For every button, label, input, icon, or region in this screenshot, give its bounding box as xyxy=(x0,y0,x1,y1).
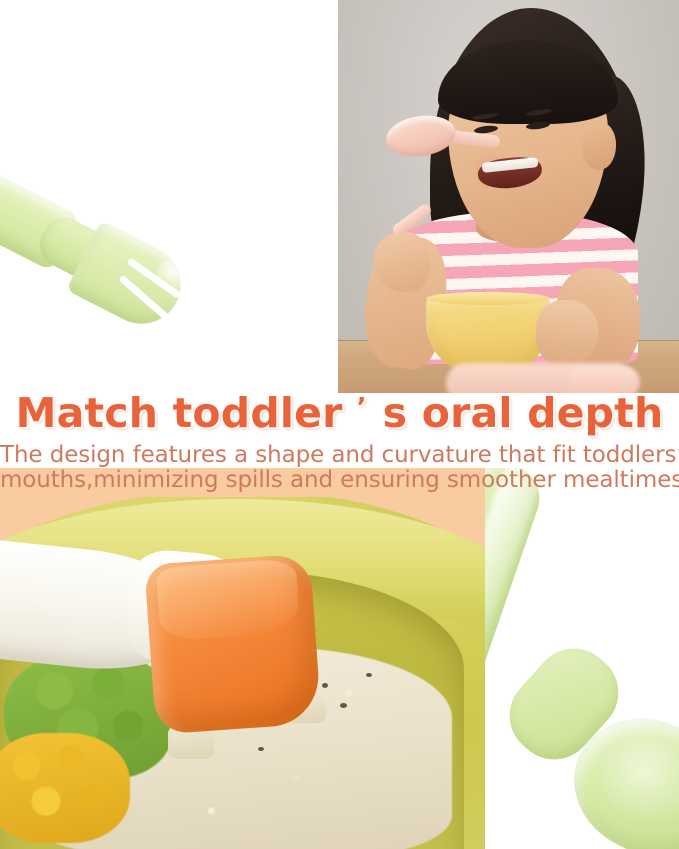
panel-spoon-product-photo xyxy=(485,468,679,849)
yellow-bowl-rim xyxy=(426,292,550,305)
child-ear xyxy=(582,122,616,170)
child-left-hand xyxy=(374,232,430,292)
yellow-bowl xyxy=(426,294,550,374)
sesame-seed xyxy=(322,683,328,688)
green-fork-icon xyxy=(0,78,221,393)
panel-fork-product-photo xyxy=(0,0,338,393)
panel-food-closeup-photo xyxy=(0,497,485,849)
sesame-seed xyxy=(258,747,264,751)
sesame-seed xyxy=(366,673,372,677)
headline-part-2: s oral depth xyxy=(383,389,664,437)
panel-child-eating-photo xyxy=(338,0,679,393)
subtitle-line-1: The design features a shape and curvatur… xyxy=(0,443,679,468)
headline: Match toddler’s oral depth xyxy=(0,383,679,433)
corn-portion xyxy=(0,733,130,843)
sesame-seed xyxy=(340,703,347,708)
headline-apostrophe: ’ xyxy=(343,393,383,423)
subtitle-line-2: mouths,minimizing spills and ensuring sm… xyxy=(0,468,679,493)
headline-part-1: Match toddler xyxy=(16,389,343,437)
product-marketing-image: Match toddler’s oral depth The design fe… xyxy=(0,0,679,849)
child-right-hand xyxy=(536,300,598,366)
